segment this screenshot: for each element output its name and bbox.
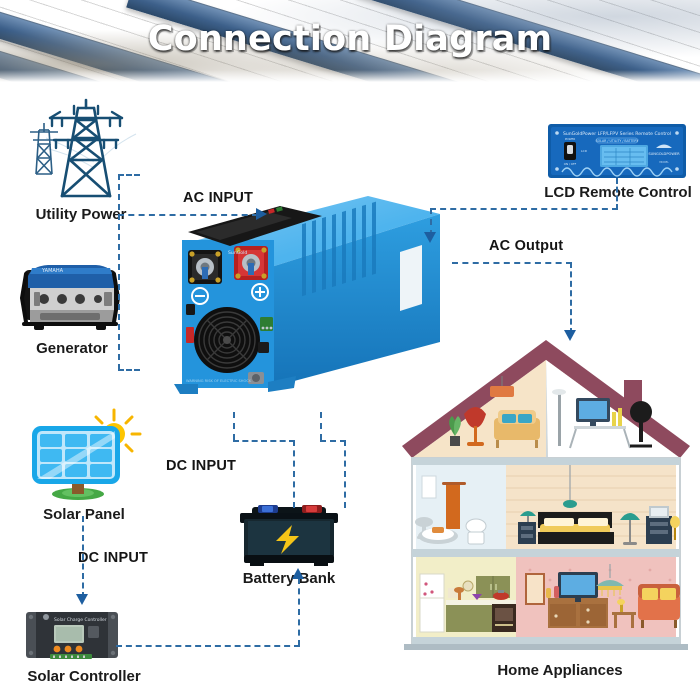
connection-diagram-page: Connection Diagram <box>0 0 700 700</box>
page-title: Connection Diagram <box>0 19 700 59</box>
dc-input-controller-label: DC INPUT <box>78 550 148 566</box>
connector-dc-pos-stub <box>320 412 322 440</box>
svg-text:MODEL: MODEL <box>659 160 669 164</box>
ac-input-label: AC INPUT <box>183 190 253 206</box>
svg-text:Solar Charge Controller: Solar Charge Controller <box>54 617 107 623</box>
svg-text:SOLAR / UTILITY / BATTERY: SOLAR / UTILITY / BATTERY <box>596 139 639 143</box>
connector-dc-neg-down <box>293 440 295 508</box>
svg-text:WARNING RISK OF ELECTRIC SHOC: WARNING RISK OF ELECTRIC SHOCK <box>186 379 252 383</box>
connector-ac-input-line <box>118 214 258 216</box>
svg-text:SunGold: SunGold <box>228 250 247 256</box>
battery-bank-icon <box>234 505 344 567</box>
solar-controller-label: Solar Controller <box>0 668 168 685</box>
solar-panel-label: Solar Panel <box>10 506 158 523</box>
connector-battery-arrow <box>292 568 304 579</box>
connector-dc-neg-horizontal <box>233 440 295 442</box>
connector-remote-arrow <box>424 232 436 243</box>
svg-text:LCD: LCD <box>581 149 588 153</box>
connector-dc-pos-down <box>344 440 346 508</box>
connector-generator-stub <box>118 369 140 371</box>
ac-output-label: AC Output <box>489 238 563 254</box>
header-banner: Connection Diagram <box>0 0 700 82</box>
svg-text:SUNGOLDPOWER: SUNGOLDPOWER <box>648 152 680 156</box>
connector-utility-stub <box>118 174 140 176</box>
connector-ac-output-vertical <box>570 262 572 334</box>
connector-utility-generator-rail <box>118 174 120 370</box>
lcd-remote-label: LCD Remote Control <box>538 184 698 201</box>
generator-label: Generator <box>2 340 142 357</box>
connector-controller-to-battery <box>116 645 300 647</box>
connector-dc-neg-stub <box>233 412 235 440</box>
home-appliances-icon <box>398 336 694 656</box>
lcd-remote-icon: SunGoldPower LFP/LFPV Series Remote Cont… <box>548 124 686 178</box>
svg-text:ON / OFF: ON / OFF <box>564 162 577 166</box>
connector-battery-up <box>298 578 300 646</box>
connector-ac-output-arrow <box>564 330 576 341</box>
utility-power-icon <box>16 96 146 200</box>
home-appliances-label: Home Appliances <box>470 662 650 679</box>
svg-text:SunGoldPower LFP/LFPV Series R: SunGoldPower LFP/LFPV Series Remote Cont… <box>563 131 671 137</box>
connector-remote-down <box>616 178 618 210</box>
banner-fade <box>0 70 700 82</box>
svg-text:YAMAHA: YAMAHA <box>41 268 64 274</box>
connector-ac-output-horizontal <box>452 262 572 264</box>
solar-controller-icon: Solar Charge Controller <box>24 608 120 664</box>
connector-dc-pos-horizontal <box>320 440 346 442</box>
solar-panel-icon <box>26 408 142 504</box>
connector-remote-horizontal <box>430 208 618 210</box>
battery-bank-label: Battery Bank <box>224 570 354 587</box>
dc-input-inverter-label: DC INPUT <box>166 458 236 474</box>
connector-ac-input-arrow <box>256 208 267 220</box>
connector-solar-arrow <box>76 594 88 605</box>
svg-text:POWER: POWER <box>565 137 575 141</box>
generator-icon: YAMAHA <box>18 258 122 334</box>
